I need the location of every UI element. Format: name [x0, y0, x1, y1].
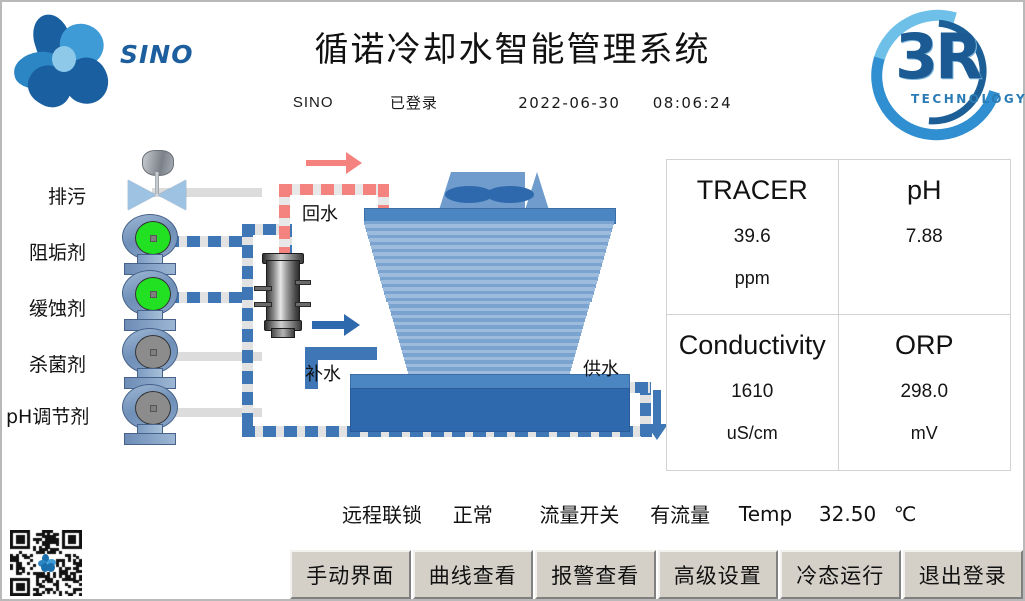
label-inhibitor: 缓蚀剂 [16, 294, 86, 321]
measurement-tracer[interactable]: TRACER 39.6 ppm [667, 160, 839, 315]
status-bar: 远程联锁 正常 流量开关 有流量 Temp 32.50 ℃ [342, 499, 1025, 527]
hx-nozzle-icon [295, 280, 311, 285]
3r-technology-logo: 3R TECHNOLOGY [865, 4, 1015, 124]
remote-interlock-label: 远程联锁 [342, 499, 422, 528]
flow-switch-label: 流量开关 [539, 499, 619, 528]
pump-stop-indicator [135, 391, 171, 425]
measurement-orp[interactable]: ORP 298.0 mV [839, 315, 1011, 470]
pump-ph-adjuster[interactable] [118, 384, 180, 446]
user-name: SINO [293, 94, 334, 111]
measurement-unit: ppm [735, 268, 770, 289]
qr-code[interactable] [10, 530, 82, 596]
pump-run-indicator [135, 221, 171, 255]
current-date: 2022-06-30 [518, 94, 620, 112]
measurement-value: 39.6 [734, 226, 771, 248]
pump-antiscalant[interactable] [118, 214, 180, 276]
measurement-value: 1610 [731, 381, 773, 403]
hmi-screen: SINO 循诺冷却水智能管理系统 SINO 已登录 2022-06-30 08:… [0, 0, 1025, 601]
measurement-name: Conductivity [679, 331, 826, 361]
return-pipe-top [279, 184, 389, 195]
measurement-unit: uS/cm [727, 423, 778, 444]
qr-center-sino-logo [38, 554, 56, 572]
alarm-view-button[interactable]: 报警查看 [535, 550, 656, 599]
label-supply-water: 供水 [583, 355, 619, 381]
header: SINO 循诺冷却水智能管理系统 SINO 已登录 2022-06-30 08:… [2, 2, 1023, 128]
hx-nozzle-icon [254, 302, 272, 307]
measurement-value: 7.88 [906, 226, 943, 248]
measurement-name: ORP [895, 331, 954, 361]
button-bar: 手动界面 曲线查看 报警查看 高级设置 冷态运行 退出登录 [290, 550, 1023, 599]
measurement-name: pH [907, 176, 942, 206]
pump-run-indicator [135, 277, 171, 311]
remote-interlock-value: 正常 [453, 499, 493, 528]
temp-unit: ℃ [894, 502, 916, 526]
measurement-name: TRACER [697, 176, 808, 206]
3r-tagline: TECHNOLOGY [911, 92, 1025, 106]
cold-start-run-button[interactable]: 冷态运行 [780, 550, 901, 599]
flow-switch-value: 有流量 [650, 499, 710, 528]
return-flow-arrow-icon [346, 152, 362, 174]
temp-label: Temp [739, 502, 792, 526]
logout-button[interactable]: 退出登录 [903, 550, 1024, 599]
label-blowdown: 排污 [16, 182, 86, 209]
advanced-settings-button[interactable]: 高级设置 [658, 550, 779, 599]
measurement-panel: TRACER 39.6 ppm pH 7.88 Conductivity 161… [666, 159, 1011, 471]
measurement-value: 298.0 [900, 381, 948, 403]
valve-body-right-icon [158, 180, 186, 210]
tower-fan-blade-right-icon [486, 186, 534, 203]
heat-exchanger[interactable] [260, 250, 304, 336]
makeup-flow-arrow-icon [344, 314, 360, 336]
label-return-water: 回水 [302, 200, 338, 226]
trend-view-button[interactable]: 曲线查看 [413, 550, 534, 599]
measurement-ph[interactable]: pH 7.88 [839, 160, 1011, 315]
temp-value: 32.50 [819, 502, 876, 526]
hx-shell-icon [266, 260, 300, 324]
measurement-conductivity[interactable]: Conductivity 1610 uS/cm [667, 315, 839, 470]
pump-base-icon [124, 433, 176, 445]
pump-biocide[interactable] [118, 328, 180, 390]
hx-skirt-icon [271, 328, 295, 338]
measurement-unit: mV [911, 423, 938, 444]
tower-body [364, 221, 614, 381]
makeup-flow-arrow-shaft [312, 321, 346, 329]
valve-body-left-icon [128, 180, 156, 210]
pump-stop-indicator [135, 335, 171, 369]
hx-nozzle-icon [295, 302, 311, 307]
blowdown-valve[interactable] [122, 150, 192, 212]
dosing-riser [242, 224, 253, 436]
manual-interface-button[interactable]: 手动界面 [290, 550, 411, 599]
supply-flow-arrow-icon [646, 424, 668, 440]
current-time: 08:06:24 [653, 94, 732, 112]
tower-basin [350, 388, 630, 432]
3r-wordmark: 3R [895, 20, 980, 93]
login-status: 已登录 [390, 92, 438, 113]
return-flow-arrow-shaft [306, 160, 348, 166]
supply-flow-arrow-shaft [653, 390, 661, 426]
label-biocide: 杀菌剂 [16, 350, 86, 377]
label-antiscalant: 阻垢剂 [16, 238, 86, 265]
label-ph-adjuster: pH调节剂 [6, 402, 86, 429]
label-makeup-water: 补水 [305, 360, 341, 386]
pump-inhibitor[interactable] [118, 270, 180, 332]
hx-nozzle-icon [254, 286, 272, 291]
